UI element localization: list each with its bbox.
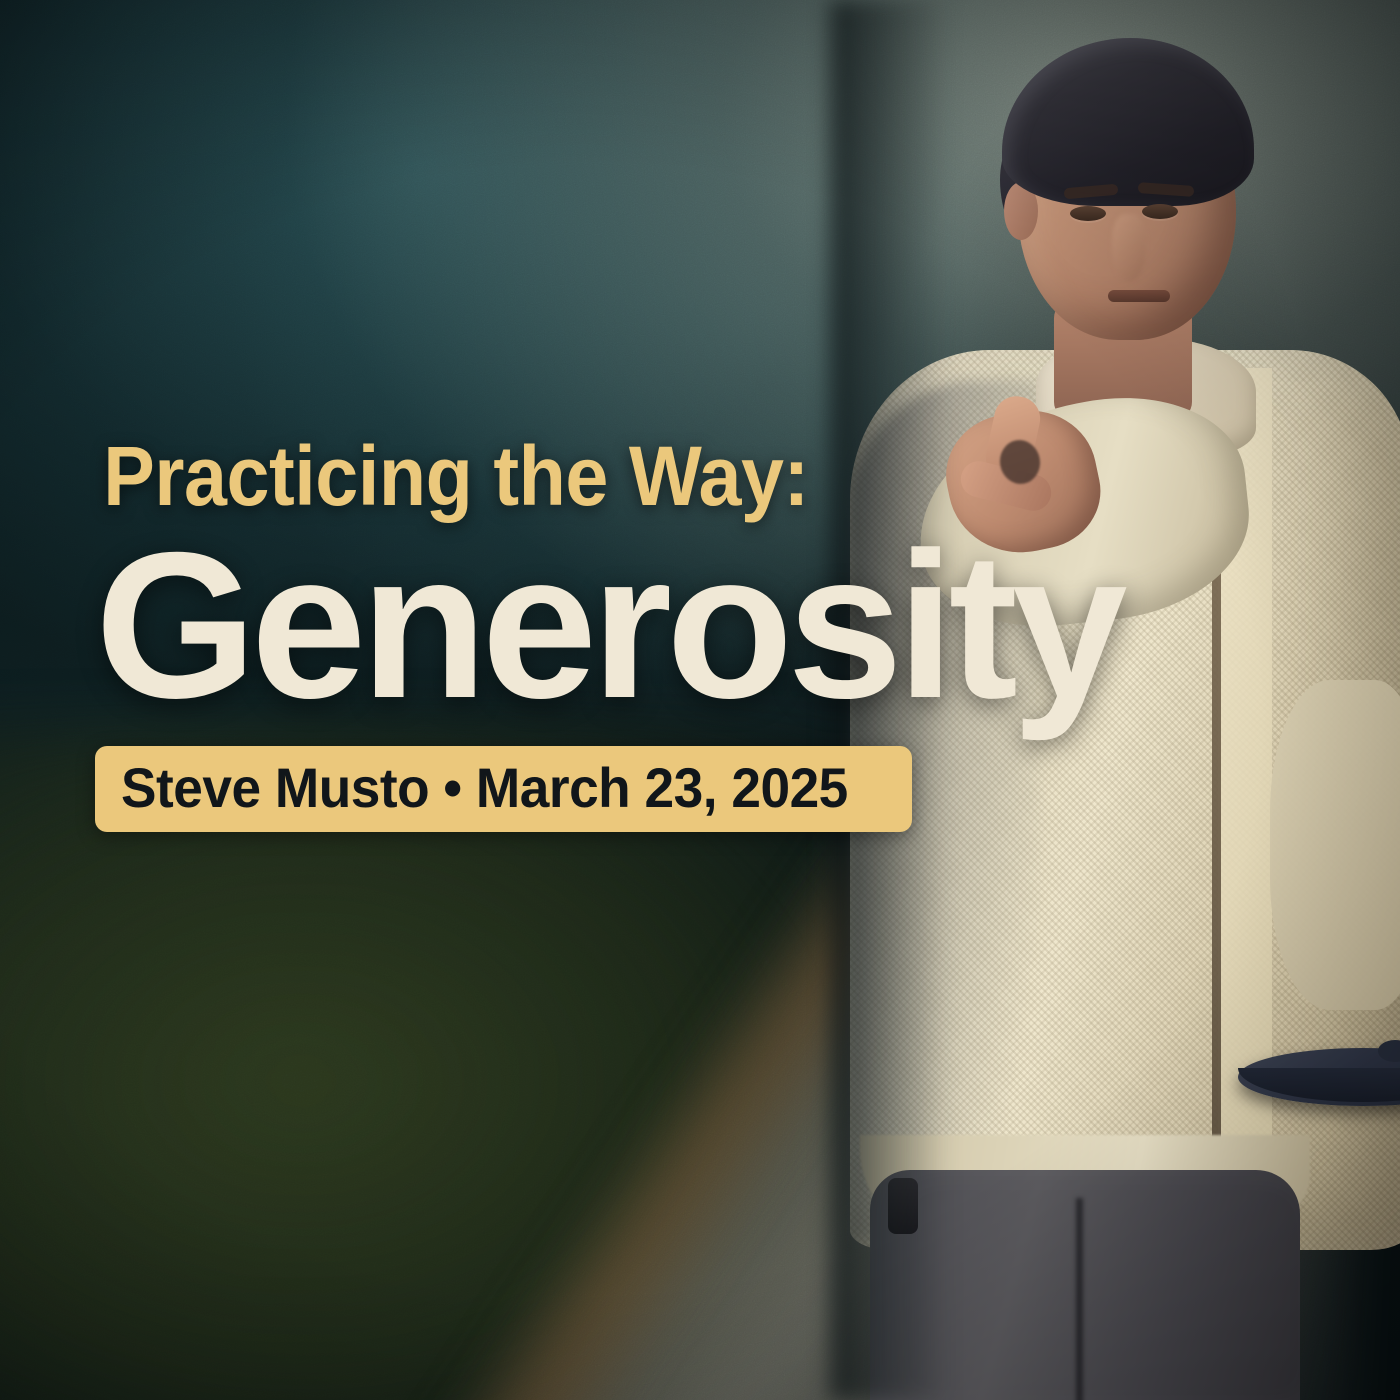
title-text-block: Practicing the Way: Generosity Steve Mus… xyxy=(95,430,1195,832)
byline-badge: Steve Musto • March 23, 2025 xyxy=(95,746,912,832)
series-eyebrow-text: Practicing the Way: xyxy=(95,430,1107,522)
title-card-canvas: Practicing the Way: Generosity Steve Mus… xyxy=(0,0,1400,1400)
byline-text: Steve Musto • March 23, 2025 xyxy=(121,760,848,816)
page-title: Generosity xyxy=(95,528,1195,724)
